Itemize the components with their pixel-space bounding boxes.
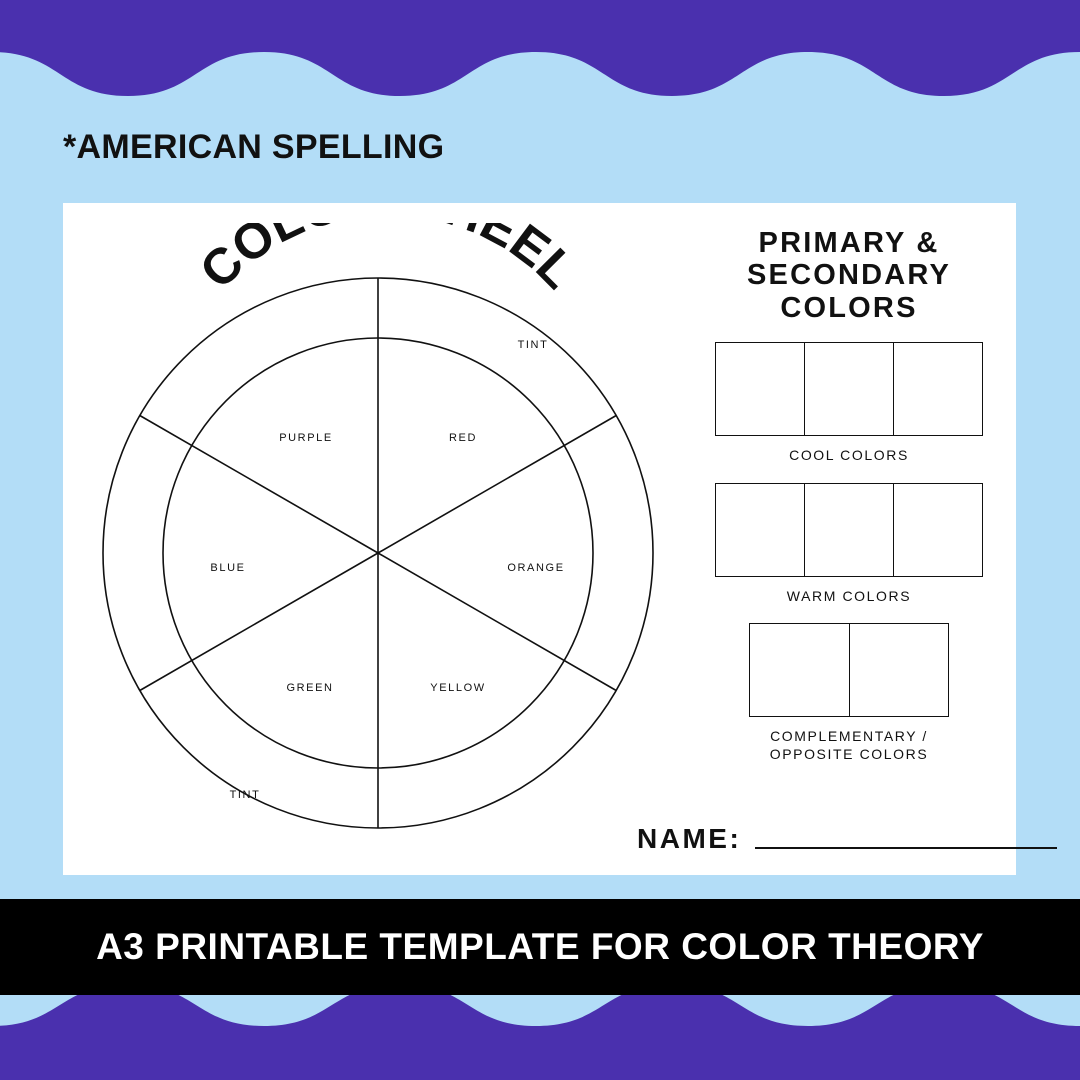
wheel-spoke-5: [140, 553, 378, 691]
american-spelling-note: *AMERICAN SPELLING: [63, 128, 444, 167]
wheel-label-purple: PURPLE: [279, 432, 333, 444]
panel-title-line-2: SECONDARY: [699, 259, 999, 291]
wheel-spoke-6: [140, 416, 378, 554]
wheel-label-red: RED: [449, 432, 477, 444]
worksheet-sheet: COLOR WHEEL RED ORANGE YELLOW: [63, 203, 1016, 875]
warm-colors-boxes: [715, 483, 983, 577]
bottom-banner: A3 PRINTABLE TEMPLATE FOR COLOR THEORY: [0, 899, 1080, 995]
complementary-colors-group: COMPLEMENTARY / OPPOSITE COLORS: [699, 623, 999, 763]
panel-title-line-1: PRIMARY &: [699, 227, 999, 259]
warm-colors-caption: WARM COLORS: [699, 587, 999, 605]
complementary-colors-cell-2[interactable]: [850, 624, 949, 716]
color-wheel-area: COLOR WHEEL RED ORANGE YELLOW: [63, 203, 683, 875]
warm-colors-cell-2[interactable]: [805, 484, 894, 576]
wheel-label-green: GREEN: [286, 682, 333, 694]
warm-colors-cell-1[interactable]: [716, 484, 805, 576]
panel-title: PRIMARY & SECONDARY COLORS: [699, 227, 999, 324]
color-wheel-diagram: RED ORANGE YELLOW GREEN BLUE PURPLE TINT…: [88, 263, 668, 843]
cool-colors-group: COOL COLORS: [699, 342, 999, 464]
panel-title-line-3: COLORS: [699, 292, 999, 324]
name-label: NAME:: [637, 823, 741, 855]
bottom-banner-text: A3 PRINTABLE TEMPLATE FOR COLOR THEORY: [96, 926, 984, 968]
wheel-label-tint-top: TINT: [518, 339, 549, 351]
poster-page: *AMERICAN SPELLING COLOR WHEEL: [0, 0, 1080, 1080]
wheel-label-tint-bottom: TINT: [230, 789, 261, 801]
top-wave-shape: [0, 0, 1080, 110]
wheel-spoke-2: [378, 553, 616, 691]
warm-colors-group: WARM COLORS: [699, 483, 999, 605]
cool-colors-caption: COOL COLORS: [699, 446, 999, 464]
wheel-label-blue: BLUE: [210, 562, 245, 574]
wheel-label-orange: ORANGE: [507, 562, 564, 574]
wheel-spoke-3: [378, 416, 616, 554]
top-wave-band: [0, 0, 1080, 110]
cool-colors-cell-3[interactable]: [894, 343, 982, 435]
cool-colors-boxes: [715, 342, 983, 436]
complementary-colors-cell-1[interactable]: [750, 624, 850, 716]
name-row: NAME:: [637, 823, 1057, 855]
complementary-colors-boxes: [749, 623, 949, 717]
primary-secondary-panel: PRIMARY & SECONDARY COLORS COOL COLORS: [699, 225, 999, 865]
cool-colors-cell-1[interactable]: [716, 343, 805, 435]
name-input-line[interactable]: [755, 847, 1057, 849]
complementary-colors-caption: COMPLEMENTARY / OPPOSITE COLORS: [699, 727, 999, 763]
cool-colors-cell-2[interactable]: [805, 343, 894, 435]
warm-colors-cell-3[interactable]: [894, 484, 982, 576]
wheel-label-yellow: YELLOW: [430, 682, 485, 694]
